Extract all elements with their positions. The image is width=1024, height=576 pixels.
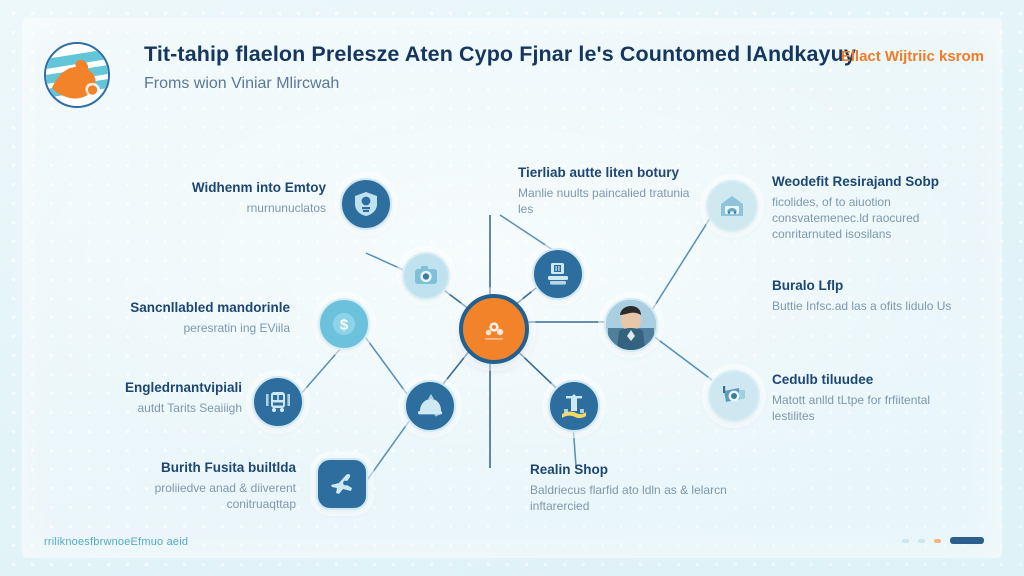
dollar-coin-icon: $: [330, 310, 358, 338]
node-warehouse-vehicle[interactable]: [706, 180, 758, 232]
page-title: Tit-tahip flaelon Prelesze Aten Cypo Fjn…: [144, 42, 856, 67]
person-avatar-icon: [606, 300, 656, 350]
label-title: Engledrnantvipiali: [62, 380, 242, 397]
footer-note: rriliknoesfbrwnoeEfmuo aeid: [44, 536, 188, 548]
label-ceduln: Cedulb tiluudee Matott anlld tLtpe for f…: [772, 372, 972, 424]
label-title: Burith Fusita builtlda: [106, 460, 296, 477]
shield-badge-icon: [352, 190, 380, 218]
crane-dock-icon: [560, 392, 588, 420]
node-shield-badge[interactable]: [340, 178, 392, 230]
factory-truck-icon: [544, 260, 572, 288]
label-engledrnantvibiali: Engledrnantvipiali autdt Tarits Seaiiigh: [62, 380, 242, 416]
label-title: Sancnllabled mandorinle: [110, 300, 290, 317]
label-desc: rnurnunuclatos: [130, 200, 326, 216]
label-burith: Burith Fusita builtlda proliiedve anad &…: [106, 460, 296, 512]
label-title: Tierliab autte liten botury: [518, 165, 704, 182]
hub-center-node[interactable]: [459, 294, 529, 364]
security-camera-icon: [719, 381, 749, 411]
header-tag: Ellact Wijtriic ksrom: [841, 48, 984, 65]
pagination[interactable]: [902, 537, 984, 544]
label-realin: Realin Shop Baldriecus flarfid ato ldln …: [530, 462, 730, 514]
label-desc: Matott anlld tLtpe for frfiitental lesti…: [772, 392, 972, 424]
label-desc: proliiedve anad & diiverent conitruaqtta…: [106, 480, 296, 512]
label-title: Realin Shop: [530, 462, 730, 479]
node-person-avatar[interactable]: [604, 298, 658, 352]
label-desc: autdt Tarits Seaiiigh: [62, 400, 242, 416]
node-crane-dock[interactable]: [548, 380, 600, 432]
label-widhenm: Widhenm into Emtoy rnurnunuclatos: [130, 180, 326, 216]
gear-cluster-icon: [479, 314, 509, 344]
label-desc: Baldriecus flarfid ato ldln as & lelarcn…: [530, 482, 730, 514]
label-title: Weodefit Resirajand Sobp: [772, 174, 972, 191]
node-train-transit[interactable]: [252, 376, 304, 428]
label-desc: Manlie nuults paincalied tratunia les: [518, 185, 704, 217]
pagination-dot[interactable]: [934, 539, 941, 543]
label-weodefit: Weodefit Resirajand Sobp ficolides, of t…: [772, 174, 972, 242]
label-sancnllabled: Sancnllabled mandorinle peresratin ing E…: [110, 300, 290, 336]
label-desc: ficolides, of to aiuotion consvatemenec.…: [772, 194, 972, 243]
pagination-dot[interactable]: [902, 539, 909, 543]
brand-logo-icon: [44, 42, 110, 108]
label-desc: peresratin ing EViila: [110, 320, 290, 336]
train-transit-icon: [264, 388, 292, 416]
pagination-dot[interactable]: [918, 539, 925, 543]
svg-text:$: $: [340, 317, 349, 334]
node-security-camera[interactable]: [708, 370, 760, 422]
airplane-icon: [328, 470, 356, 498]
label-title: Cedulb tiluudee: [772, 372, 972, 389]
node-helmet-tools[interactable]: [404, 380, 456, 432]
camera-lens-icon: [413, 263, 439, 289]
label-buralo: Buralo Lflp Buttie Infsc.ad las a ofits …: [772, 278, 952, 314]
node-airplane[interactable]: [316, 458, 368, 510]
page-subtitle: Froms wion Viniar Mlircwah: [144, 75, 339, 93]
label-title: Buralo Lflp: [772, 278, 952, 295]
label-desc: Buttie Infsc.ad las a ofits lidulo Us: [772, 298, 952, 314]
slide-header: Tit-tahip flaelon Prelesze Aten Cypo Fjn…: [44, 40, 990, 112]
helmet-tools-icon: [416, 392, 444, 420]
pagination-active-bar[interactable]: [950, 537, 984, 544]
node-dollar-coin[interactable]: $: [318, 298, 370, 350]
label-title: Widhenm into Emtoy: [130, 180, 326, 197]
node-factory-truck[interactable]: [532, 248, 584, 300]
warehouse-vehicle-icon: [717, 191, 747, 221]
label-tierliab: Tierliab autte liten botury Manlie nuult…: [518, 165, 704, 217]
node-camera-lens[interactable]: [402, 252, 450, 300]
